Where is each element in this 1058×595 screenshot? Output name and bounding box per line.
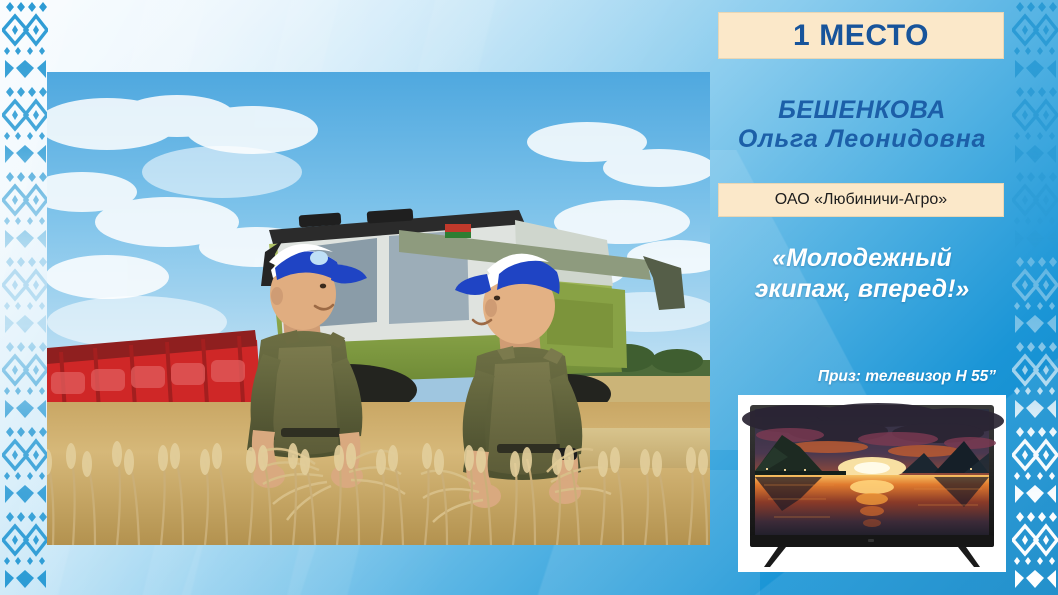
ornament-strip-left — [2, 0, 48, 595]
slogan-line-2: экипаж, вперед!» — [712, 274, 1012, 305]
place-label: 1 МЕСТО — [793, 19, 929, 53]
place-banner: 1 МЕСТО — [718, 12, 1004, 59]
winner-name-block: БЕШЕНКОВА Ольга Леонидовна — [712, 96, 1012, 154]
ornament-strip-right — [1012, 0, 1058, 595]
organization-banner: ОАО «Любиничи-Агро» — [718, 183, 1004, 217]
winner-surname: БЕШЕНКОВА — [712, 96, 1012, 125]
presentation-slide: 1 МЕСТО БЕШЕНКОВА Ольга Леонидовна ОАО «… — [0, 0, 1058, 595]
organization-label: ОАО «Любиничи-Агро» — [775, 191, 947, 209]
slogan-line-1: «Молодежный — [712, 243, 1012, 274]
prize-label: Приз: телевизор H 55” — [700, 368, 1010, 386]
prize-tv-image — [738, 395, 1006, 572]
team-slogan: «Молодежный экипаж, вперед!» — [712, 243, 1012, 304]
winner-given-name: Ольга Леонидовна — [712, 125, 1012, 154]
winner-photo — [47, 72, 710, 545]
